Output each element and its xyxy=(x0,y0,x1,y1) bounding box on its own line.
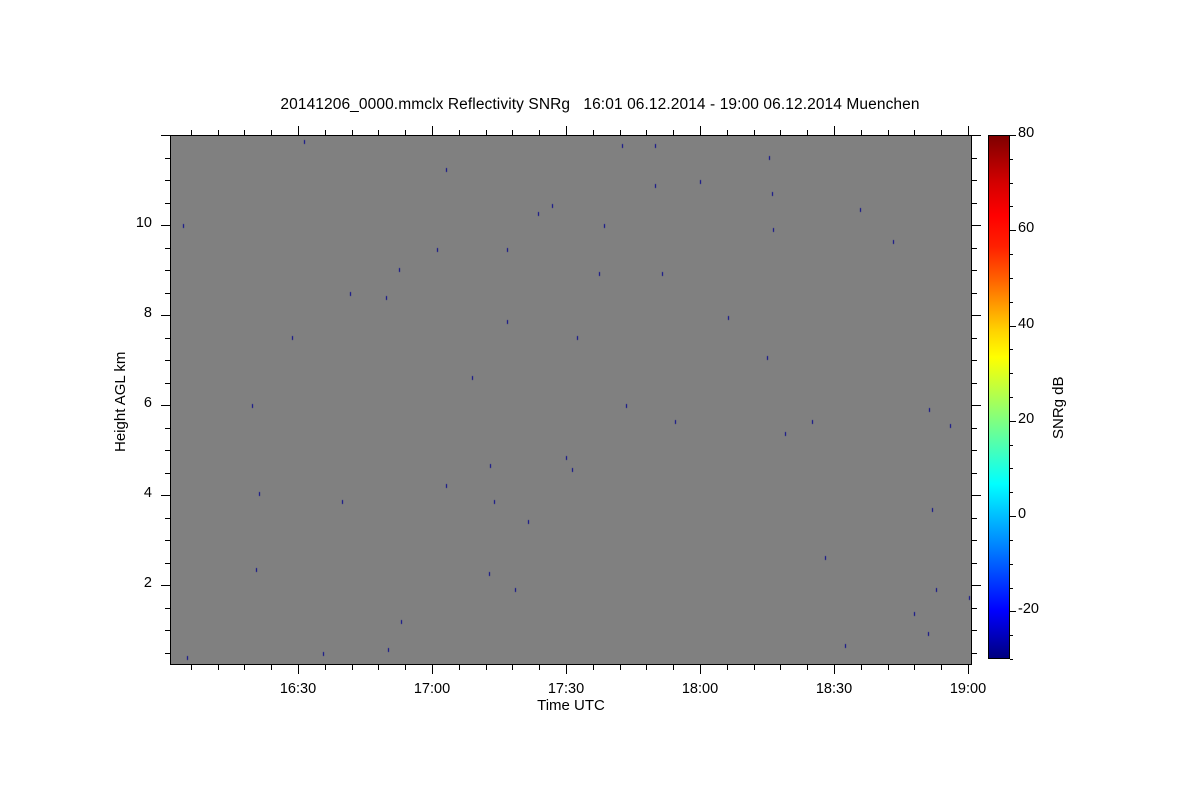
axis-tick xyxy=(673,130,674,135)
colorbar-tick xyxy=(1010,135,1016,136)
axis-tick xyxy=(432,126,433,135)
axis-tick xyxy=(972,563,977,564)
axis-tick xyxy=(972,450,977,451)
colorbar-tick-label: 0 xyxy=(1018,506,1026,522)
colorbar-tick xyxy=(1010,326,1016,327)
colorbar-tick xyxy=(1010,349,1013,350)
axis-tick xyxy=(161,585,170,586)
plot-title: 20141206_0000.mmclx Reflectivity SNRg 16… xyxy=(0,96,1200,114)
axis-tick xyxy=(780,665,781,670)
axis-tick xyxy=(620,665,621,670)
x-axis-tick-label: 19:00 xyxy=(923,681,1013,697)
colorbar xyxy=(988,135,1010,659)
axis-tick xyxy=(888,665,889,670)
axis-tick xyxy=(972,473,977,474)
axis-tick xyxy=(161,495,170,496)
axis-tick xyxy=(888,130,889,135)
axis-tick xyxy=(405,665,406,670)
axis-tick xyxy=(165,158,170,159)
reflectivity-heatmap-canvas xyxy=(171,136,971,664)
radar-reflectivity-figure: 20141206_0000.mmclx Reflectivity SNRg 16… xyxy=(0,0,1200,800)
axis-tick xyxy=(754,130,755,135)
axis-tick xyxy=(271,665,272,670)
axis-tick xyxy=(972,540,977,541)
axis-tick xyxy=(352,665,353,670)
axis-tick xyxy=(727,665,728,670)
axis-tick xyxy=(191,130,192,135)
axis-tick xyxy=(165,473,170,474)
axis-tick xyxy=(972,135,981,136)
axis-tick xyxy=(972,585,981,586)
axis-tick xyxy=(972,338,977,339)
axis-tick xyxy=(539,665,540,670)
axis-tick xyxy=(861,665,862,670)
axis-tick xyxy=(486,665,487,670)
colorbar-title: SNRg dB xyxy=(1050,376,1067,439)
colorbar-tick xyxy=(1010,421,1016,422)
axis-tick xyxy=(754,665,755,670)
axis-tick xyxy=(298,126,299,135)
axis-tick xyxy=(941,130,942,135)
colorbar-tick xyxy=(1010,278,1013,279)
axis-tick xyxy=(405,130,406,135)
axis-tick xyxy=(271,130,272,135)
axis-tick xyxy=(972,383,977,384)
colorbar-tick xyxy=(1010,611,1016,612)
x-axis-title: Time UTC xyxy=(170,697,972,714)
axis-tick xyxy=(459,665,460,670)
colorbar-tick xyxy=(1010,159,1013,160)
axis-tick xyxy=(861,130,862,135)
axis-tick xyxy=(161,135,170,136)
axis-tick xyxy=(972,428,977,429)
colorbar-tick xyxy=(1010,659,1013,660)
colorbar-tick xyxy=(1010,254,1013,255)
axis-tick xyxy=(244,665,245,670)
axis-tick xyxy=(459,130,460,135)
axis-tick xyxy=(700,665,701,674)
axis-tick xyxy=(161,225,170,226)
axis-tick xyxy=(165,450,170,451)
axis-tick xyxy=(968,126,969,135)
axis-tick xyxy=(834,126,835,135)
axis-tick xyxy=(972,518,977,519)
axis-tick xyxy=(646,665,647,670)
axis-tick xyxy=(593,130,594,135)
axis-tick xyxy=(972,495,981,496)
axis-tick xyxy=(539,130,540,135)
axis-tick xyxy=(566,126,567,135)
axis-tick xyxy=(165,608,170,609)
axis-tick xyxy=(165,428,170,429)
axis-tick xyxy=(378,130,379,135)
axis-tick xyxy=(512,130,513,135)
colorbar-tick xyxy=(1010,445,1013,446)
axis-tick xyxy=(218,665,219,670)
axis-tick xyxy=(165,293,170,294)
axis-tick xyxy=(161,405,170,406)
colorbar-tick-label: 20 xyxy=(1018,411,1034,427)
axis-tick xyxy=(165,270,170,271)
y-axis-tick-label: 8 xyxy=(112,305,152,321)
y-axis-tick-label: 10 xyxy=(112,215,152,231)
colorbar-tick xyxy=(1010,588,1013,589)
axis-tick xyxy=(972,180,977,181)
colorbar-tick xyxy=(1010,564,1013,565)
axis-tick xyxy=(165,563,170,564)
colorbar-tick xyxy=(1010,302,1013,303)
axis-tick xyxy=(352,130,353,135)
axis-tick xyxy=(972,653,977,654)
colorbar-tick xyxy=(1010,397,1013,398)
colorbar-tick xyxy=(1010,540,1013,541)
colorbar-tick-label: 60 xyxy=(1018,220,1034,236)
y-axis-tick-label: 2 xyxy=(112,575,152,591)
x-axis-tick-label: 16:30 xyxy=(253,681,343,697)
colorbar-tick xyxy=(1010,206,1013,207)
x-axis-tick-label: 17:30 xyxy=(521,681,611,697)
axis-tick xyxy=(165,248,170,249)
axis-tick xyxy=(298,665,299,674)
axis-tick xyxy=(972,293,977,294)
axis-tick xyxy=(191,665,192,670)
axis-tick xyxy=(972,225,981,226)
axis-tick xyxy=(780,130,781,135)
axis-tick xyxy=(512,665,513,670)
axis-tick xyxy=(972,315,981,316)
axis-tick xyxy=(972,630,977,631)
axis-tick xyxy=(165,383,170,384)
axis-tick xyxy=(972,248,977,249)
axis-tick xyxy=(972,405,981,406)
y-axis-title: Height AGL km xyxy=(112,352,129,452)
axis-tick xyxy=(727,130,728,135)
axis-tick xyxy=(700,126,701,135)
axis-tick xyxy=(165,360,170,361)
axis-tick xyxy=(165,338,170,339)
colorbar-tick xyxy=(1010,468,1013,469)
axis-tick xyxy=(165,630,170,631)
axis-tick xyxy=(432,665,433,674)
x-axis-tick-label: 18:30 xyxy=(789,681,879,697)
axis-tick xyxy=(325,130,326,135)
axis-tick xyxy=(244,130,245,135)
axis-tick xyxy=(972,203,977,204)
y-axis-tick-label: 4 xyxy=(112,485,152,501)
colorbar-tick xyxy=(1010,635,1013,636)
axis-tick xyxy=(161,315,170,316)
axis-tick xyxy=(593,665,594,670)
axis-tick xyxy=(165,518,170,519)
x-axis-tick-label: 18:00 xyxy=(655,681,745,697)
axis-tick xyxy=(620,130,621,135)
colorbar-tick xyxy=(1010,183,1013,184)
axis-tick xyxy=(941,665,942,670)
axis-tick xyxy=(673,665,674,670)
colorbar-tick-label: 40 xyxy=(1018,316,1034,332)
axis-tick xyxy=(972,360,977,361)
axis-tick xyxy=(807,665,808,670)
axis-tick xyxy=(972,608,977,609)
colorbar-tick xyxy=(1010,492,1013,493)
axis-tick xyxy=(378,665,379,670)
axis-tick xyxy=(325,665,326,670)
colorbar-tick xyxy=(1010,516,1016,517)
x-axis-tick-label: 17:00 xyxy=(387,681,477,697)
colorbar-tick xyxy=(1010,373,1013,374)
axis-tick xyxy=(566,665,567,674)
axis-tick xyxy=(218,130,219,135)
axis-tick xyxy=(646,130,647,135)
axis-tick xyxy=(486,130,487,135)
axis-tick xyxy=(972,158,977,159)
axis-tick xyxy=(807,130,808,135)
axis-tick xyxy=(914,130,915,135)
axis-tick xyxy=(968,665,969,674)
axis-tick xyxy=(834,665,835,674)
colorbar-tick-label: -20 xyxy=(1018,601,1039,617)
axis-tick xyxy=(165,540,170,541)
axis-tick xyxy=(165,203,170,204)
heatmap-plot-area xyxy=(170,135,972,665)
axis-tick xyxy=(972,270,977,271)
axis-tick xyxy=(914,665,915,670)
colorbar-tick xyxy=(1010,230,1016,231)
axis-tick xyxy=(165,653,170,654)
axis-tick xyxy=(165,180,170,181)
colorbar-tick-label: 80 xyxy=(1018,125,1034,141)
